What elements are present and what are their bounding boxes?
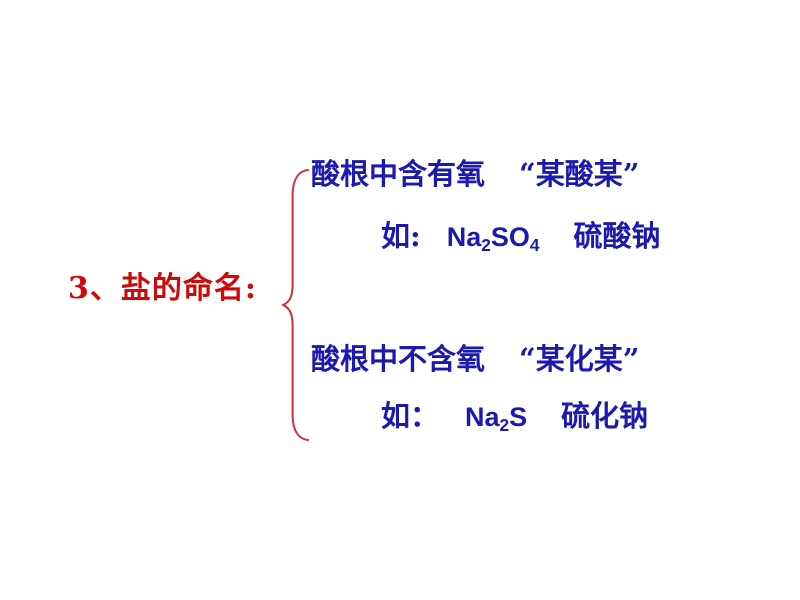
- branch-2-example-name: 硫化钠: [561, 399, 648, 433]
- left-curly-brace-icon: [278, 166, 312, 444]
- formula-element-na: Na: [465, 402, 500, 432]
- branch-1-condition: 酸根中含有氧: [311, 157, 485, 191]
- branch-2-pattern: “某化某”: [519, 342, 639, 376]
- formula-element-s: S: [509, 402, 527, 432]
- formula-element-na: Na: [447, 222, 482, 252]
- branch-2-example-label: 如：: [381, 399, 439, 433]
- branch-2-condition: 酸根中不含氧: [311, 342, 485, 376]
- formula-subscript-1: 2: [500, 415, 510, 435]
- page-title: 3、盐的命名:: [68, 274, 257, 304]
- branch-2-formula: Na2S: [465, 402, 527, 432]
- formula-subscript-2: 4: [530, 235, 540, 255]
- branch-1-example-name: 硫酸钠: [573, 219, 660, 253]
- formula-group-so: SO: [491, 222, 530, 252]
- branch-1-formula: Na2SO4: [447, 222, 540, 252]
- branch-2-example-row: 如：Na2S硫化钠: [381, 402, 648, 431]
- branch-2-condition-row: 酸根中不含氧“某化某”: [311, 345, 639, 374]
- branch-1-example-label: 如:: [381, 219, 421, 253]
- formula-subscript-1: 2: [481, 235, 491, 255]
- branch-1-condition-row: 酸根中含有氧“某酸某”: [311, 160, 639, 189]
- branch-1-pattern: “某酸某”: [519, 157, 639, 191]
- slide-canvas: 3、盐的命名: 酸根中含有氧“某酸某” 如:Na2SO4硫酸钠 酸根中不含氧“某…: [0, 0, 800, 600]
- branch-1-example-row: 如:Na2SO4硫酸钠: [381, 222, 660, 251]
